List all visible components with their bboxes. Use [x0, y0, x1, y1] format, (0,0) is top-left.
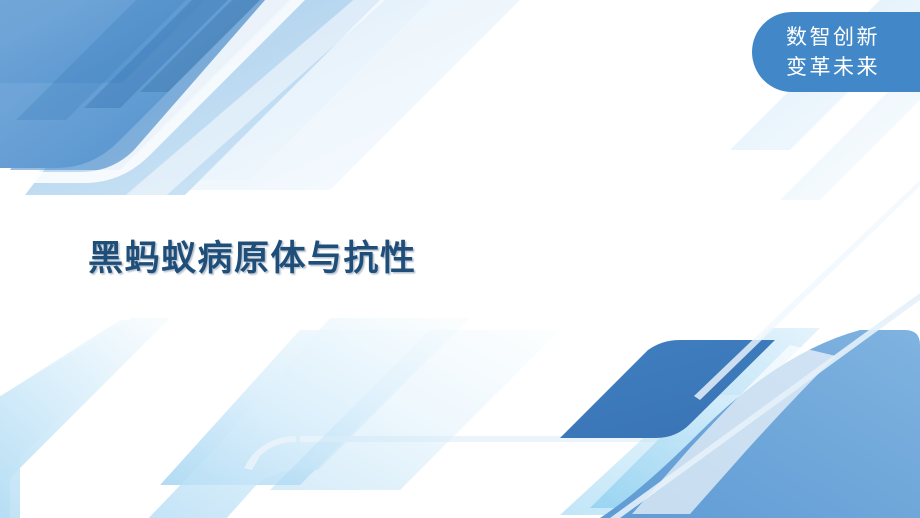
slogan-badge: 数智创新 变革未来	[752, 12, 920, 92]
slide-title: 黑蚂蚁病原体与抗性	[88, 239, 417, 279]
title-block: 黑蚂蚁病原体与抗性	[88, 231, 608, 287]
slogan-line-1: 数智创新	[786, 22, 880, 52]
slide-canvas: 数智创新 变革未来 黑蚂蚁病原体与抗性	[0, 0, 920, 518]
slogan-line-2: 变革未来	[786, 52, 880, 82]
